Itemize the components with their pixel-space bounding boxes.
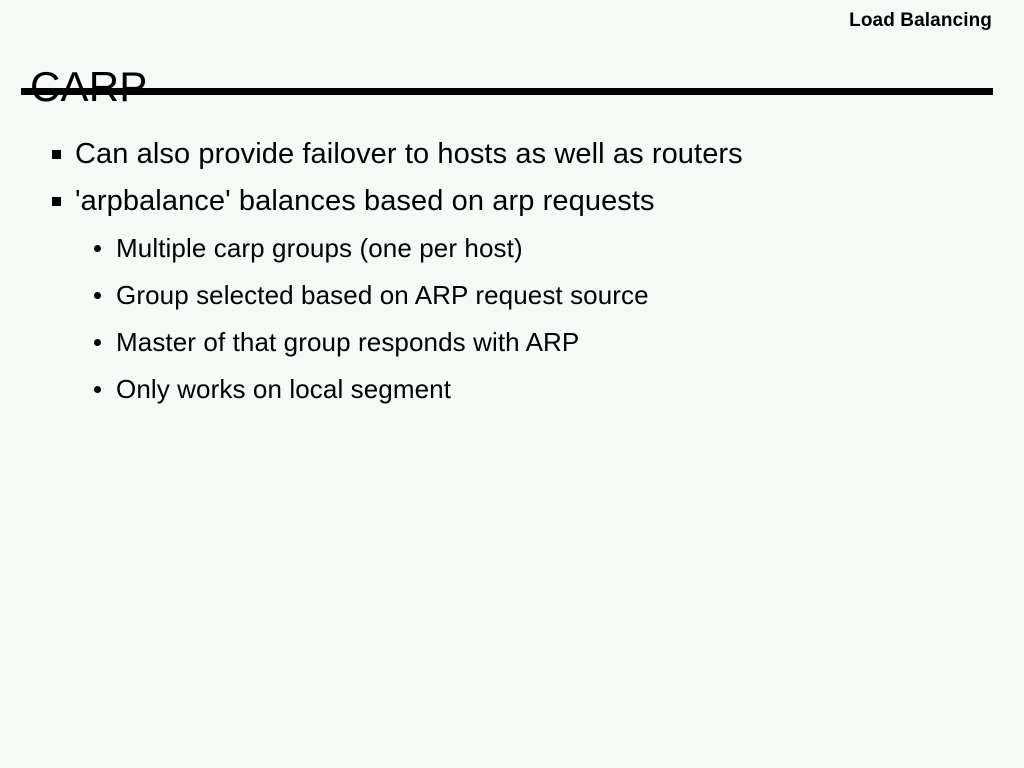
slide-canvas: Load Balancing CARP Can also provide fai… <box>0 0 1024 768</box>
list-item-label: Only works on local segment <box>116 366 451 413</box>
list-item: 'arpbalance' balances based on arp reque… <box>0 178 1024 225</box>
round-bullet-icon <box>94 339 101 346</box>
list-item: Can also provide failover to hosts as we… <box>0 131 1024 178</box>
list-item: Multiple carp groups (one per host) <box>0 225 1024 272</box>
round-bullet-icon <box>94 292 101 299</box>
round-bullet-icon <box>94 386 101 393</box>
list-item-label: 'arpbalance' balances based on arp reque… <box>75 178 655 225</box>
list-item: Only works on local segment <box>0 366 1024 413</box>
list-item-label: Multiple carp groups (one per host) <box>116 225 523 272</box>
slide-header-label: Load Balancing <box>849 11 992 30</box>
list-item: Group selected based on ARP request sour… <box>0 272 1024 319</box>
round-bullet-icon <box>94 245 101 252</box>
list-item-label: Master of that group responds with ARP <box>116 319 579 366</box>
list-item-label: Can also provide failover to hosts as we… <box>75 131 743 178</box>
slide-body: Can also provide failover to hosts as we… <box>0 131 1024 413</box>
list-item-label: Group selected based on ARP request sour… <box>116 272 649 319</box>
list-item: Master of that group responds with ARP <box>0 319 1024 366</box>
square-bullet-icon <box>52 197 61 206</box>
square-bullet-icon <box>52 150 61 159</box>
title-divider <box>21 88 993 95</box>
